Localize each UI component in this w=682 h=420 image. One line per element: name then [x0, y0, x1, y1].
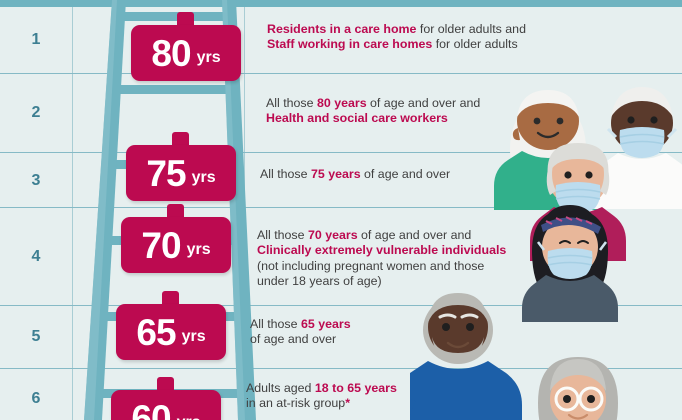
badge-80-yrs[interactable]: 80 yrs: [131, 25, 241, 81]
vaccine-priority-ladder: [0, 0, 682, 420]
badge-65-yrs[interactable]: 65 yrs: [116, 304, 226, 360]
row-text-3: All those 75 years of age and over: [260, 167, 450, 182]
badge-70-yrs[interactable]: 70 yrs: [121, 217, 231, 273]
row-text-6: Adults aged 18 to 65 yearsin an at-risk …: [246, 381, 397, 412]
badge-value: 75: [146, 155, 185, 192]
badge-value: 60: [131, 400, 170, 420]
badge-unit: yrs: [197, 49, 221, 67]
infographic-canvas: 1 2 3 4 5 6: [0, 0, 682, 420]
badge-unit: yrs: [177, 414, 201, 420]
badge-value: 65: [136, 314, 175, 351]
badge-value: 80: [151, 35, 190, 72]
badge-unit: yrs: [182, 328, 206, 346]
badge-60-yrs[interactable]: 60 yrs: [111, 390, 221, 420]
badge-unit: yrs: [192, 169, 216, 187]
badge-75-yrs[interactable]: 75 yrs: [126, 145, 236, 201]
badge-unit: yrs: [187, 241, 211, 259]
row-text-5: All those 65 yearsof age and over: [250, 317, 351, 348]
badge-value: 70: [141, 227, 180, 264]
row-text-1: Residents in a care home for older adult…: [267, 22, 526, 53]
row-text-2: All those 80 years of age and over andHe…: [266, 96, 480, 127]
row-text-4: All those 70 years of age and over andCl…: [257, 228, 506, 290]
